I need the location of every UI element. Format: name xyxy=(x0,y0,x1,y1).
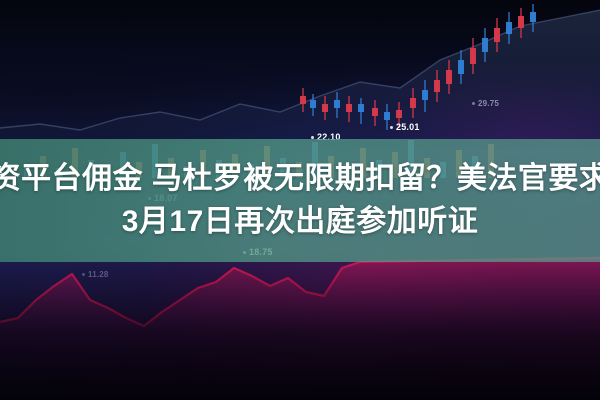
headline-line-1: 配资平台佣金 马杜罗被无限期扣留？美法官要求其 xyxy=(0,160,600,198)
news-banner-image: 22.1025.0129.7518.0718.7511.28 配资平台佣金 马杜… xyxy=(0,0,600,400)
headline-block: 配资平台佣金 马杜罗被无限期扣留？美法官要求其 3月17日再次出庭参加听证 xyxy=(0,139,600,262)
bottom-vignette xyxy=(0,250,600,400)
headline-line-2: 3月17日再次出庭参加听证 xyxy=(122,203,479,241)
